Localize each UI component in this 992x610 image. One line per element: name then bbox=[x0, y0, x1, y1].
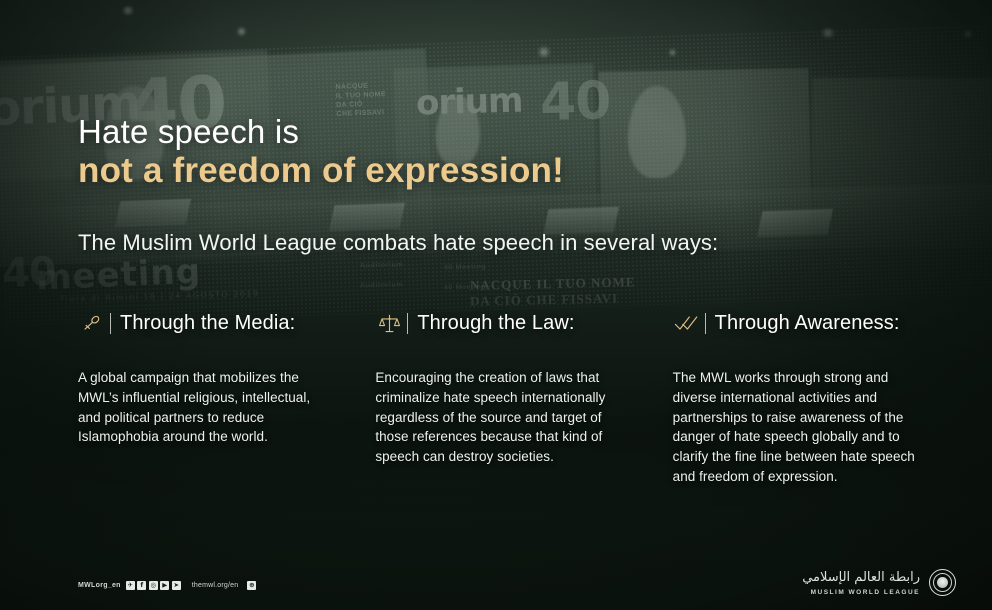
column-awareness-body: The MWL works through strong and diverse… bbox=[673, 368, 935, 487]
youtube-icon[interactable]: ▶ bbox=[160, 581, 169, 590]
scales-of-justice-icon bbox=[375, 309, 403, 337]
column-media-divider bbox=[110, 313, 111, 334]
headline: Hate speech is not a freedom of expressi… bbox=[78, 112, 838, 193]
globe-icon[interactable]: ⊕ bbox=[247, 581, 256, 590]
poster-content: Hate speech is not a freedom of expressi… bbox=[0, 0, 992, 610]
footer-social-block: MWLorg_en ✈ f ◎ ▶ ➤ themwl.org/en ⊕ bbox=[78, 581, 256, 590]
column-awareness-divider bbox=[705, 313, 706, 334]
column-law: Through the Law: Encouraging the creatio… bbox=[375, 306, 644, 487]
column-media-header: Through the Media: bbox=[78, 306, 347, 340]
telegram-icon[interactable]: ➤ bbox=[172, 581, 181, 590]
column-awareness-title: Through Awareness: bbox=[715, 310, 900, 336]
double-check-icon bbox=[673, 309, 701, 337]
column-law-header: Through the Law: bbox=[375, 306, 644, 340]
facebook-icon[interactable]: f bbox=[137, 581, 146, 590]
column-awareness: Through Awareness: The MWL works through… bbox=[673, 306, 942, 487]
twitter-icon[interactable]: ✈ bbox=[126, 581, 135, 590]
brand-text: رابطة العالم الإسلامي MUSLIM WORLD LEAGU… bbox=[802, 570, 920, 596]
instagram-icon[interactable]: ◎ bbox=[149, 581, 158, 590]
brand-name-english: MUSLIM WORLD LEAGUE bbox=[802, 589, 920, 596]
brand-lockup: رابطة العالم الإسلامي MUSLIM WORLD LEAGU… bbox=[802, 569, 956, 596]
subheading: The Muslim World League combats hate spe… bbox=[78, 228, 938, 258]
column-media-body: A global campaign that mobilizes the MWL… bbox=[78, 368, 316, 447]
column-law-title: Through the Law: bbox=[417, 310, 574, 336]
infographic-poster: orium 40 orium 40 NACQUEIL TUO NOMEDA CI… bbox=[0, 0, 992, 610]
column-law-divider bbox=[407, 313, 408, 334]
brand-name-arabic: رابطة العالم الإسلامي bbox=[802, 570, 920, 586]
mwl-emblem-icon bbox=[929, 569, 956, 596]
column-law-body: Encouraging the creation of laws that cr… bbox=[375, 368, 607, 467]
columns-container: Through the Media: A global campaign tha… bbox=[78, 306, 942, 487]
social-icon-list: ✈ f ◎ ▶ ➤ bbox=[126, 581, 181, 590]
column-media-title: Through the Media: bbox=[120, 310, 295, 336]
microphone-icon bbox=[78, 309, 106, 337]
social-handle: MWLorg_en bbox=[78, 582, 121, 589]
column-media: Through the Media: A global campaign tha… bbox=[78, 306, 347, 487]
headline-line-1: Hate speech is bbox=[78, 112, 838, 152]
footer: MWLorg_en ✈ f ◎ ▶ ➤ themwl.org/en ⊕ رابط… bbox=[0, 550, 992, 610]
headline-line-2: not a freedom of expression! bbox=[78, 149, 838, 193]
website-url[interactable]: themwl.org/en bbox=[192, 582, 239, 589]
column-awareness-header: Through Awareness: bbox=[673, 306, 942, 340]
